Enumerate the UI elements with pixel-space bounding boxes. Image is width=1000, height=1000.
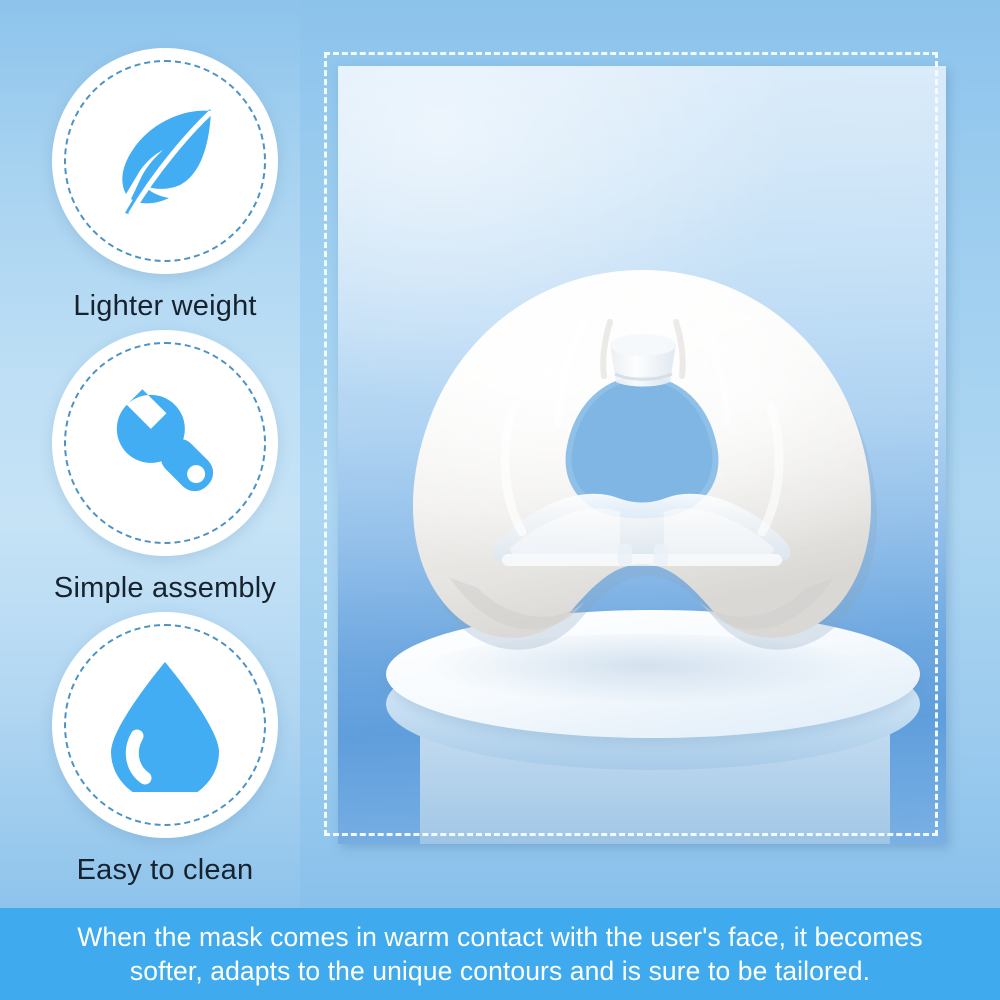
cpap-mask-cushion bbox=[382, 248, 902, 708]
feature-badge bbox=[52, 48, 278, 274]
caption-line-1: When the mask comes in warm contact with… bbox=[77, 920, 922, 954]
product-photo bbox=[338, 66, 946, 844]
feature-badge bbox=[52, 612, 278, 838]
feature-item-lighter-weight[interactable]: Lighter weight bbox=[0, 48, 330, 323]
feature-label: Lighter weight bbox=[0, 290, 330, 323]
caption-bar: When the mask comes in warm contact with… bbox=[0, 908, 1000, 1000]
wrench-icon bbox=[52, 330, 278, 556]
feature-list: Lighter weight Simple assembly bbox=[0, 0, 330, 905]
feature-label: Simple assembly bbox=[0, 572, 330, 605]
product-photo-frame bbox=[330, 58, 946, 844]
product-infographic: Lighter weight Simple assembly bbox=[0, 0, 1000, 1000]
feature-badge bbox=[52, 330, 278, 556]
feature-label: Easy to clean bbox=[0, 854, 330, 887]
caption-line-2: softer, adapts to the unique contours an… bbox=[130, 954, 870, 988]
feature-item-easy-to-clean[interactable]: Easy to clean bbox=[0, 612, 330, 887]
feather-icon bbox=[52, 48, 278, 274]
feature-item-simple-assembly[interactable]: Simple assembly bbox=[0, 330, 330, 605]
water-drop-icon bbox=[52, 612, 278, 838]
